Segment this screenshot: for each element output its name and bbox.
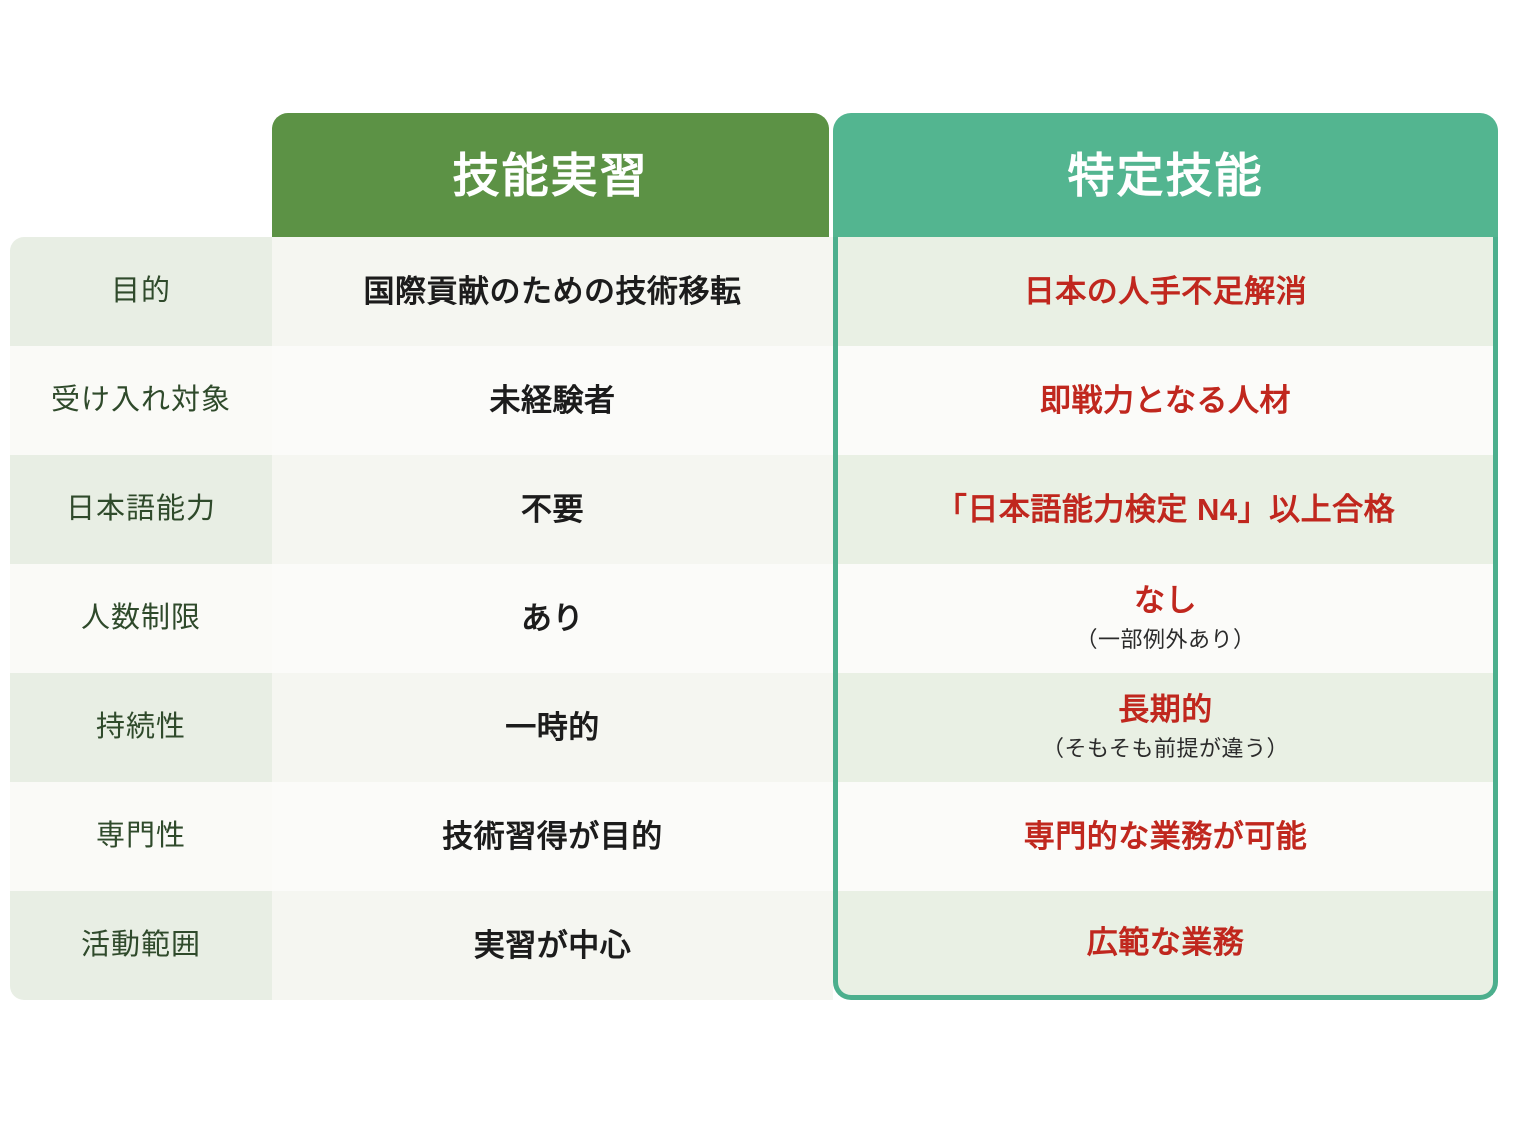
- cell-ginou-jisshu-japanese-ability: 不要: [272, 455, 833, 564]
- column-header-ginou-jisshu-label: 技能実習: [453, 152, 649, 199]
- cell-tokutei-ginou-sustainability: 長期的 （そもそも前提が違う）: [833, 673, 1498, 782]
- comparison-table-board: 技能実習 特定技能 目的 国際貢献のための技術移転 日本の人手不足解消 受け入れ…: [0, 0, 1518, 1125]
- cell-tokutei-ginou-purpose: 日本の人手不足解消: [833, 237, 1498, 346]
- cell-tokutei-ginou-expertise: 専門的な業務が可能: [833, 782, 1498, 891]
- cell-ginou-jisshu-expertise: 技術習得が目的: [272, 782, 833, 891]
- row-label-activity-scope: 活動範囲: [10, 891, 272, 1000]
- cell-ginou-jisshu-sustainability: 一時的: [272, 673, 833, 782]
- row-label-purpose: 目的: [10, 237, 272, 346]
- column-header-ginou-jisshu: 技能実習: [272, 113, 829, 237]
- row-label-sustainability: 持続性: [10, 673, 272, 782]
- column-header-tokutei-ginou-label: 特定技能: [1068, 152, 1264, 199]
- comparison-table-grid: 目的 国際貢献のための技術移転 日本の人手不足解消 受け入れ対象 未経験者 即戦…: [10, 237, 1498, 1000]
- cell-ginou-jisshu-target: 未経験者: [272, 346, 833, 455]
- cell-ginou-jisshu-purpose: 国際貢献のための技術移転: [272, 237, 833, 346]
- cell-tokutei-ginou-japanese-ability: 「日本語能力検定 N4」以上合格: [833, 455, 1498, 564]
- cell-ginou-jisshu-headcount-limit: あり: [272, 564, 833, 673]
- column-header-tokutei-ginou: 特定技能: [833, 113, 1498, 237]
- row-label-headcount-limit: 人数制限: [10, 564, 272, 673]
- row-label-expertise: 専門性: [10, 782, 272, 891]
- cell-tokutei-ginou-target: 即戦力となる人材: [833, 346, 1498, 455]
- cell-note-sustainability: （そもそも前提が違う）: [1042, 731, 1289, 763]
- row-label-japanese-ability: 日本語能力: [10, 455, 272, 564]
- cell-note-headcount-limit: （一部例外あり）: [1075, 622, 1255, 654]
- cell-tokutei-ginou-activity-scope: 広範な業務: [833, 891, 1498, 1000]
- cell-ginou-jisshu-activity-scope: 実習が中心: [272, 891, 833, 1000]
- row-label-target: 受け入れ対象: [10, 346, 272, 455]
- cell-tokutei-ginou-headcount-limit: なし （一部例外あり）: [833, 564, 1498, 673]
